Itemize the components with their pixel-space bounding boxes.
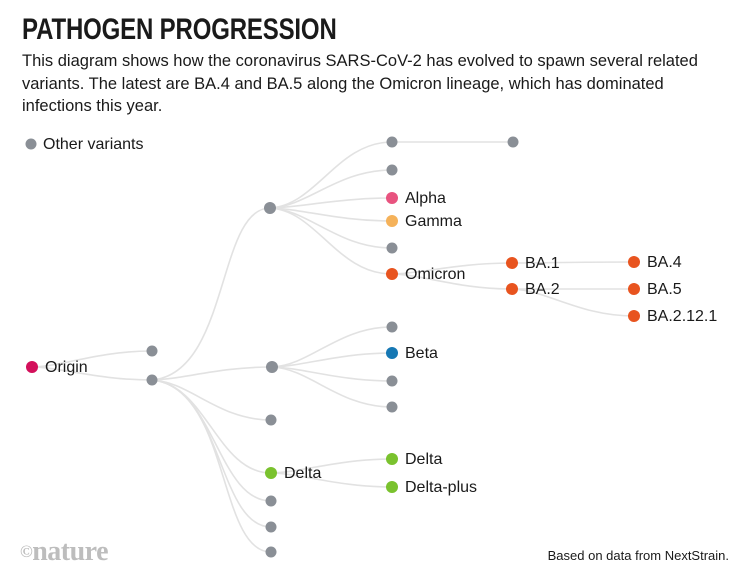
- node-dot[interactable]: [628, 283, 640, 295]
- tree-node-unlabeled[interactable]: [387, 165, 398, 176]
- node-dot[interactable]: [26, 361, 38, 373]
- node-dot[interactable]: [264, 202, 276, 214]
- node-dot[interactable]: [387, 322, 398, 333]
- node-label: Alpha: [405, 190, 446, 207]
- tree-edge: [272, 353, 392, 367]
- tree-edge: [270, 208, 392, 248]
- node-dot[interactable]: [386, 215, 398, 227]
- variant-tree-diagram: OriginDeltaAlphaGammaOmicronBA.1BA.2BA.4…: [0, 0, 751, 580]
- node-label: Origin: [45, 359, 88, 376]
- tree-node-alpha[interactable]: Alpha: [386, 190, 446, 207]
- node-label: Gamma: [405, 213, 462, 230]
- node-label: BA.2: [525, 281, 560, 298]
- tree-node-origin[interactable]: Origin: [26, 359, 88, 376]
- node-label: BA.4: [647, 254, 682, 271]
- tree-node-unlabeled[interactable]: [147, 375, 158, 386]
- node-dot[interactable]: [265, 467, 277, 479]
- tree-node-deltaplus[interactable]: Delta-plus: [386, 479, 477, 496]
- tree-node-unlabeled[interactable]: [387, 322, 398, 333]
- node-dot[interactable]: [387, 376, 398, 387]
- nature-logo: ©nature: [20, 538, 108, 566]
- legend-dot-other-variants: [26, 139, 37, 150]
- tree-node-unlabeled[interactable]: [387, 376, 398, 387]
- tree-node-ba2121[interactable]: BA.2.12.1: [628, 308, 717, 325]
- tree-node-delta-par[interactable]: Delta: [265, 465, 321, 482]
- tree-edges: [32, 142, 634, 552]
- node-dot[interactable]: [386, 347, 398, 359]
- node-label: Delta: [284, 465, 321, 482]
- tree-edge: [272, 327, 392, 367]
- tree-edge: [272, 367, 392, 407]
- node-dot[interactable]: [386, 268, 398, 280]
- node-label: BA.5: [647, 281, 682, 298]
- node-dot[interactable]: [387, 402, 398, 413]
- tree-edge: [270, 208, 392, 221]
- node-dot[interactable]: [266, 496, 277, 507]
- tree-node-ba1[interactable]: BA.1: [506, 255, 560, 272]
- tree-node-unlabeled[interactable]: [147, 346, 158, 357]
- node-dot[interactable]: [387, 243, 398, 254]
- node-dot[interactable]: [506, 283, 518, 295]
- tree-node-ba2[interactable]: BA.2: [506, 281, 560, 298]
- tree-node-unlabeled[interactable]: [266, 361, 278, 373]
- node-label: Omicron: [405, 266, 465, 283]
- tree-node-unlabeled[interactable]: [266, 496, 277, 507]
- node-dot[interactable]: [386, 481, 398, 493]
- node-dot[interactable]: [266, 361, 278, 373]
- node-dot[interactable]: [387, 165, 398, 176]
- tree-node-unlabeled[interactable]: [387, 137, 398, 148]
- node-dot[interactable]: [386, 453, 398, 465]
- tree-edge: [152, 367, 272, 380]
- node-label: Beta: [405, 345, 438, 362]
- tree-edge: [152, 208, 270, 380]
- node-dot[interactable]: [508, 137, 519, 148]
- tree-node-unlabeled[interactable]: [266, 522, 277, 533]
- node-dot[interactable]: [628, 256, 640, 268]
- node-label: Delta: [405, 451, 442, 468]
- tree-nodes: OriginDeltaAlphaGammaOmicronBA.1BA.2BA.4…: [26, 137, 717, 558]
- tree-edge: [272, 367, 392, 381]
- tree-node-omicron[interactable]: Omicron: [386, 266, 465, 283]
- tree-node-unlabeled[interactable]: [264, 202, 276, 214]
- legend-label-other-variants: Other variants: [43, 136, 143, 153]
- node-dot[interactable]: [387, 137, 398, 148]
- legend: Other variants: [26, 136, 144, 153]
- tree-node-delta[interactable]: Delta: [386, 451, 442, 468]
- node-label: BA.2.12.1: [647, 308, 717, 325]
- tree-node-unlabeled[interactable]: [508, 137, 519, 148]
- source-credit: Based on data from NextStrain.: [548, 548, 729, 563]
- tree-node-unlabeled[interactable]: [266, 547, 277, 558]
- copyright-icon: ©: [20, 542, 32, 561]
- tree-edge: [152, 380, 271, 420]
- node-dot[interactable]: [147, 375, 158, 386]
- tree-edge: [270, 208, 392, 274]
- tree-node-gamma[interactable]: Gamma: [386, 213, 462, 230]
- node-dot[interactable]: [386, 192, 398, 204]
- nature-wordmark: nature: [32, 536, 108, 567]
- node-dot[interactable]: [266, 522, 277, 533]
- tree-node-ba4[interactable]: BA.4: [628, 254, 682, 271]
- node-dot[interactable]: [628, 310, 640, 322]
- tree-edge: [152, 380, 271, 473]
- tree-node-unlabeled[interactable]: [387, 402, 398, 413]
- tree-node-ba5[interactable]: BA.5: [628, 281, 682, 298]
- tree-edge: [152, 380, 271, 552]
- node-dot[interactable]: [506, 257, 518, 269]
- node-dot[interactable]: [147, 346, 158, 357]
- node-dot[interactable]: [266, 547, 277, 558]
- infographic-root: PATHOGEN PROGRESSION This diagram shows …: [0, 0, 751, 580]
- tree-edge: [152, 380, 271, 527]
- node-label: BA.1: [525, 255, 560, 272]
- node-dot[interactable]: [266, 415, 277, 426]
- tree-node-unlabeled[interactable]: [266, 415, 277, 426]
- tree-node-beta[interactable]: Beta: [386, 345, 438, 362]
- tree-node-unlabeled[interactable]: [387, 243, 398, 254]
- node-label: Delta-plus: [405, 479, 477, 496]
